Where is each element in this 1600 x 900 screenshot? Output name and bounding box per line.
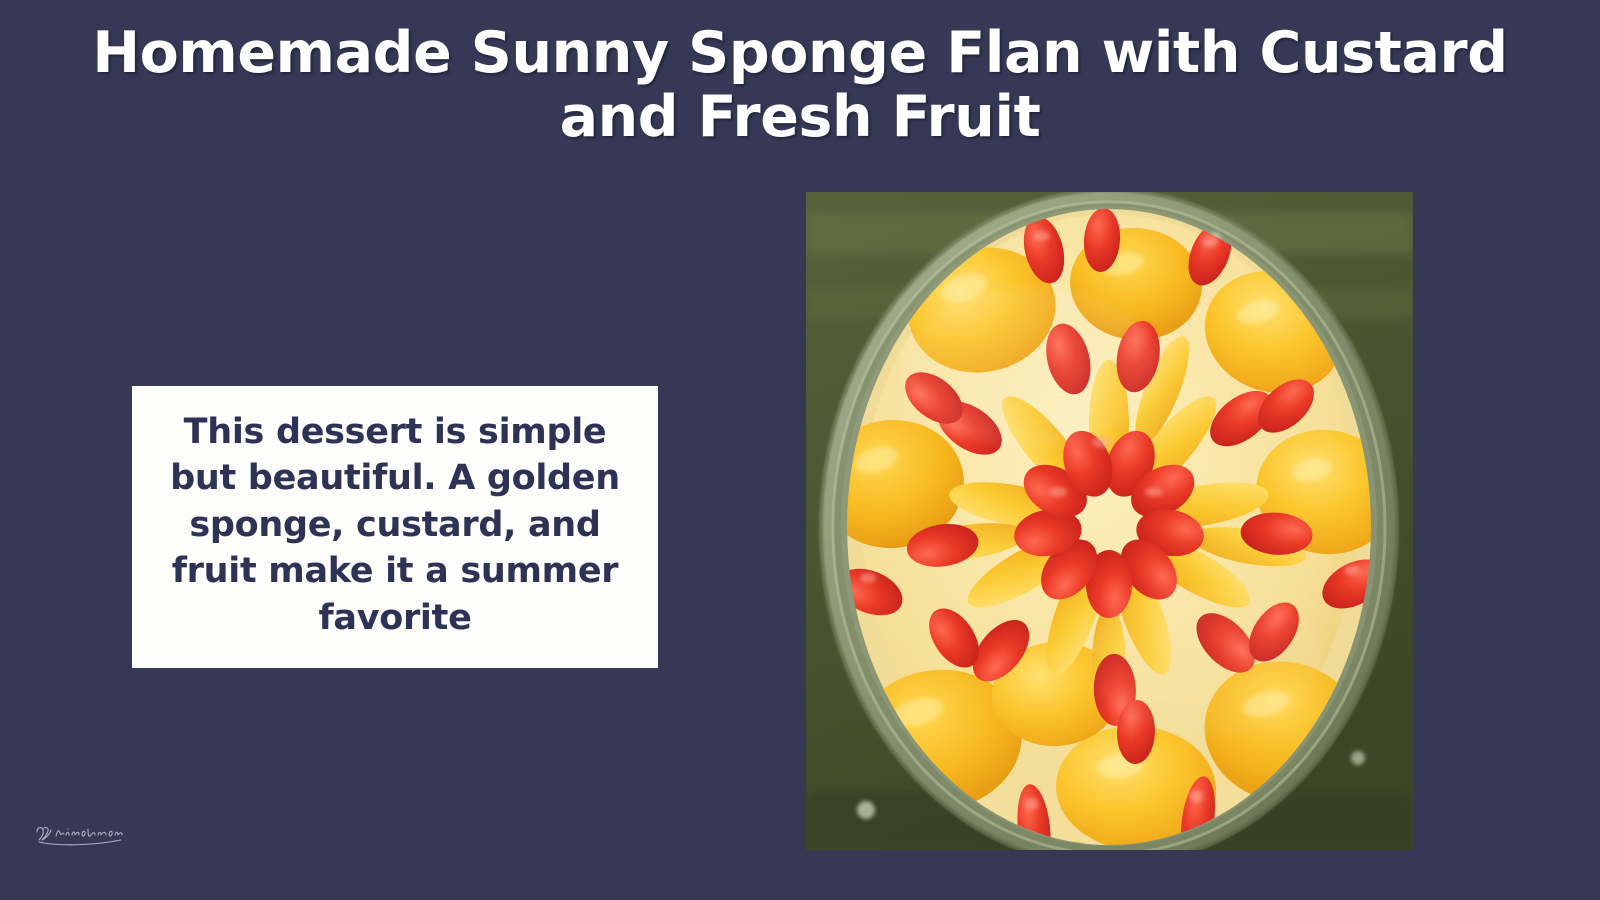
page-title: Homemade Sunny Sponge Flan with Custard … <box>80 22 1520 150</box>
slide-canvas: Homemade Sunny Sponge Flan with Custard … <box>0 0 1600 900</box>
flan-photo <box>806 192 1413 850</box>
caption-card: This dessert is simple but beautiful. A … <box>132 386 658 668</box>
caption-text: This dessert is simple but beautiful. A … <box>150 409 640 642</box>
signature-watermark <box>33 816 137 850</box>
